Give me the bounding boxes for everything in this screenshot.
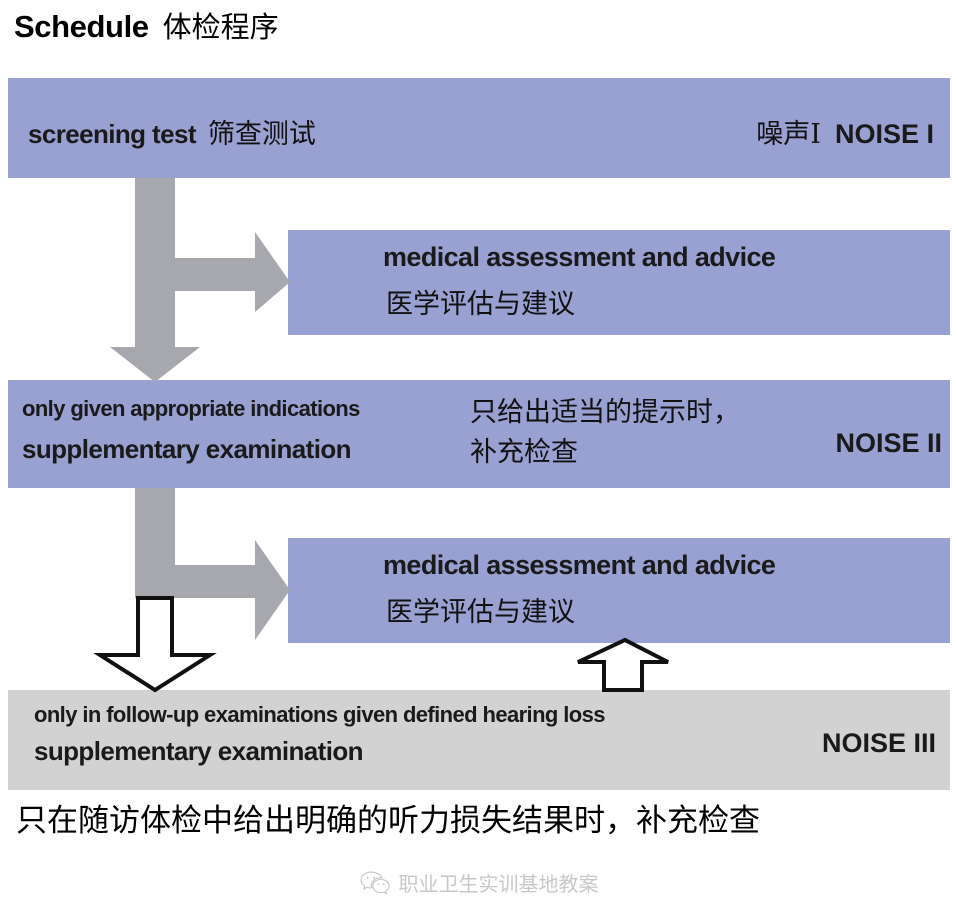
noise3-english-line2: supplementary examination	[34, 736, 363, 767]
noise1-screening-group: screening test 筛查测试	[28, 112, 316, 151]
medical2-english-label: medical assessment and advice	[383, 550, 775, 581]
noise1-level-english: NOISE I	[835, 119, 934, 150]
medical-assessment-box-2: medical assessment and advice 医学评估与建议	[288, 538, 950, 643]
noise1-level-group: 噪声Ⅰ NOISE I	[756, 112, 934, 151]
footer-watermark: 职业卫生实训基地教案	[0, 868, 958, 897]
arrow-group-noise2	[135, 488, 290, 640]
noise2-level-english: NOISE II	[835, 428, 942, 459]
arrow-hollow-down-noise2-to-noise3	[100, 598, 210, 690]
noise1-bar: screening test 筛查测试 噪声Ⅰ NOISE I	[8, 78, 950, 178]
noise1-level-chinese: 噪声Ⅰ	[756, 112, 821, 151]
medical2-chinese-label: 医学评估与建议	[386, 590, 575, 629]
page-title-english: Schedule	[14, 9, 149, 45]
noise3-english-line1: only in follow-up examinations given def…	[34, 702, 605, 728]
noise1-english-label: screening test	[28, 119, 196, 150]
noise2-chinese-line2: 补充检查	[470, 430, 578, 469]
arrow-right-noise2-to-medical2	[135, 488, 290, 640]
medical1-chinese-label: 医学评估与建议	[386, 282, 575, 321]
noise2-english-line1: only given appropriate indications	[22, 396, 360, 422]
noise2-bar: only given appropriate indications 只给出适当…	[8, 380, 950, 488]
noise3-level-english: NOISE III	[822, 728, 936, 759]
arrow-hollow-up-noise3-to-medical2	[578, 640, 668, 690]
noise1-chinese-label: 筛查测试	[208, 112, 316, 151]
medical1-english-label: medical assessment and advice	[383, 242, 775, 273]
wechat-icon	[360, 870, 390, 896]
page-title: Schedule 体检程序	[14, 4, 279, 46]
noise2-english-line2: supplementary examination	[22, 434, 351, 465]
medical-assessment-box-1: medical assessment and advice 医学评估与建议	[288, 230, 950, 335]
noise2-chinese-line1: 只给出适当的提示时，	[470, 390, 740, 429]
arrow-right-noise1-to-medical1	[175, 232, 290, 312]
arrow-down-noise1-to-noise2	[110, 178, 200, 382]
arrow-group-noise1	[110, 178, 290, 382]
noise3-bar: only in follow-up examinations given def…	[8, 690, 950, 790]
bottom-caption: 只在随访体检中给出明确的听力损失结果时，补充检查	[16, 795, 760, 840]
page-title-chinese: 体检程序	[163, 4, 279, 46]
watermark-text: 职业卫生实训基地教案	[399, 868, 599, 897]
